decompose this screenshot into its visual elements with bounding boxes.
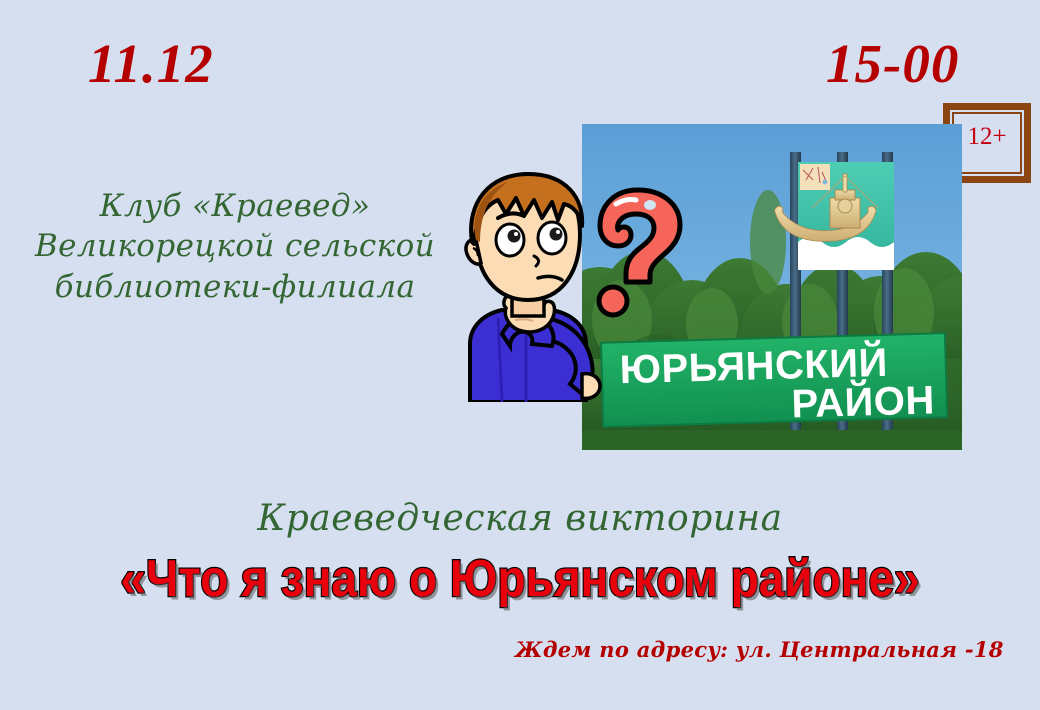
thinking-boy-icon xyxy=(440,168,612,402)
age-rating-badge-frame: 12+ xyxy=(952,112,1022,174)
age-rating-label: 12+ xyxy=(967,124,1006,163)
poster-canvas: 11.12 15-00 12+ Клуб «Краевед» Великорец… xyxy=(0,0,1040,710)
event-time: 15-00 xyxy=(826,32,959,95)
club-name-line: Клуб «Краевед» xyxy=(30,186,440,226)
event-date: 11.12 xyxy=(88,32,214,95)
venue-address: Ждем по адресу: ул. Центральная -18 xyxy=(515,637,1004,662)
club-library-line-1: Великорецкой сельской xyxy=(30,226,440,266)
district-sign-photo: ЮРЬЯНСКИЙ РАЙОН xyxy=(582,124,962,450)
club-library-line-2: библиотеки-филиала xyxy=(30,267,440,307)
district-sign-photo-graphic: ЮРЬЯНСКИЙ РАЙОН xyxy=(582,124,962,450)
club-organizer-block: Клуб «Краевед» Великорецкой сельской биб… xyxy=(30,186,440,307)
quiz-title: «Что я знаю о Юрьянском районе» xyxy=(0,548,1040,608)
sign-text-line-2: РАЙОН xyxy=(791,376,936,426)
quiz-subtitle: Краеведческая викторина xyxy=(0,498,1040,539)
